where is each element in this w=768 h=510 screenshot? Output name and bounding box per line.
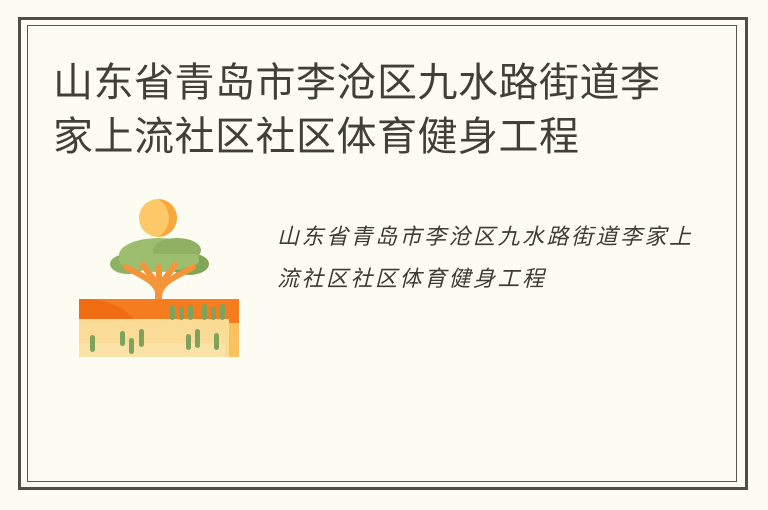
body-row: 山东省青岛市李沧区九水路街道李家上流社区社区体育健身工程 [53, 195, 713, 367]
page-title: 山东省青岛市李沧区九水路街道李家上流社区社区体育健身工程 [53, 56, 693, 164]
poster-card: 山东省青岛市李沧区九水路街道李家上流社区社区体育健身工程 [0, 0, 768, 510]
card-content: 山东省青岛市李沧区九水路街道李家上流社区社区体育健身工程 [27, 25, 737, 482]
sun-shape [139, 199, 177, 237]
savanna-sunset-icon [79, 197, 239, 367]
body-paragraph: 山东省青岛市李沧区九水路街道李家上流社区社区体育健身工程 [277, 217, 713, 301]
